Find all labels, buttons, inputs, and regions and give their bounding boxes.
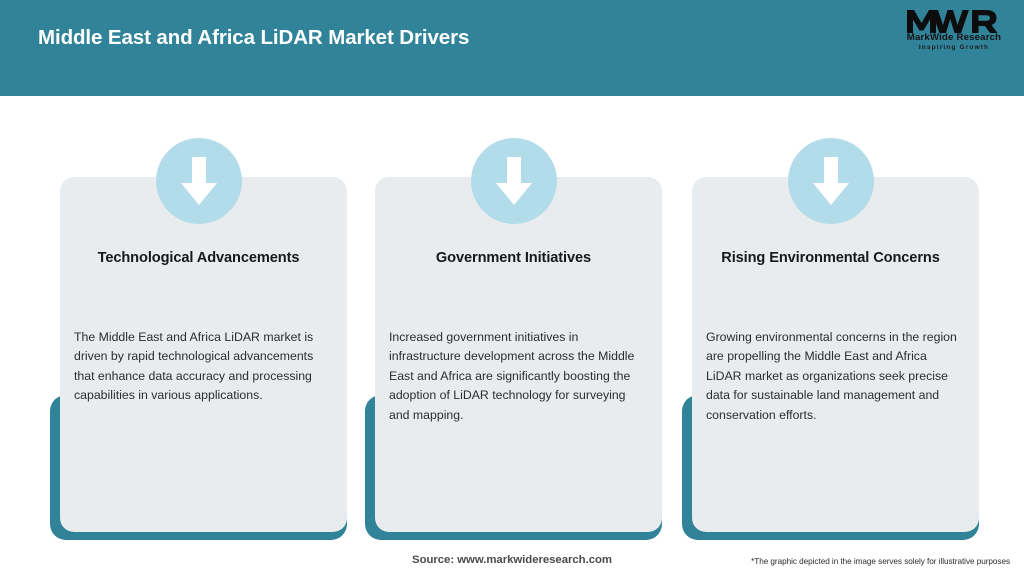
card-title: Rising Environmental Concerns [706,248,955,269]
arrow-down-icon [788,138,874,224]
arrow-down-icon [471,138,557,224]
card-title: Technological Advancements [74,248,323,269]
disclaimer-label: *The graphic depicted in the image serve… [751,557,1010,566]
driver-cards-container: Technological Advancements The Middle Ea… [0,0,1024,576]
card-body-text: The Middle East and Africa LiDAR market … [74,328,329,406]
infographic-page: Middle East and Africa LiDAR Market Driv… [0,0,1024,576]
driver-card[interactable]: Rising Environmental Concerns Growing en… [682,138,979,540]
driver-card[interactable]: Technological Advancements The Middle Ea… [50,138,347,540]
card-body-text: Increased government initiatives in infr… [389,328,644,425]
arrow-down-icon [156,138,242,224]
driver-card[interactable]: Government Initiatives Increased governm… [365,138,662,540]
card-body-text: Growing environmental concerns in the re… [706,328,961,425]
card-title: Government Initiatives [389,248,638,269]
